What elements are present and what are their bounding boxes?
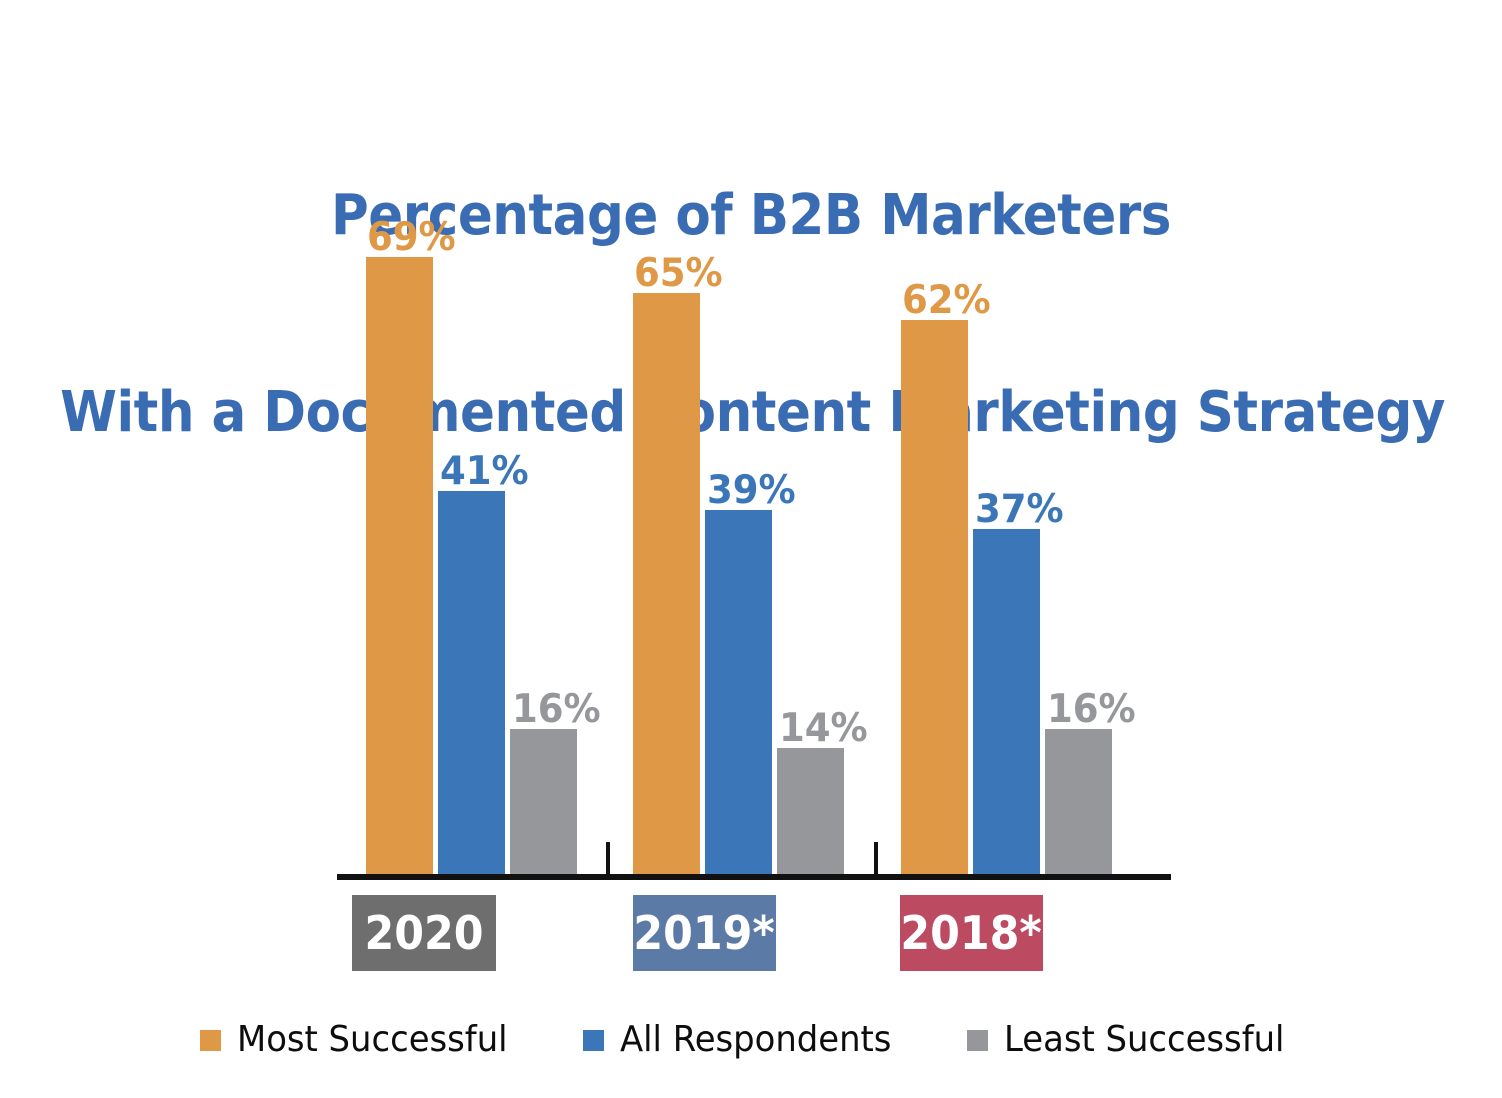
legend-item-least-successful[interactable]: Least Successful xyxy=(967,1022,1302,1058)
bar-2020-most-successful[interactable] xyxy=(366,257,433,879)
bar-2018-all-respondents[interactable] xyxy=(973,529,1040,879)
chart-container: Percentage of B2B Marketers With a Docum… xyxy=(0,0,1502,1098)
category-label-2020-text: 2020 xyxy=(364,906,483,960)
bar-label-2019-most-successful: 65% xyxy=(634,254,723,293)
category-label-2019[interactable]: 2019* xyxy=(633,895,776,971)
bar-label-2020-most-successful: 69% xyxy=(367,218,456,257)
legend-item-most-successful[interactable]: Most Successful xyxy=(200,1022,525,1058)
category-label-2018[interactable]: 2018* xyxy=(900,895,1043,971)
bar-label-2020-all-respondents: 41% xyxy=(440,452,529,491)
bar-label-2020-least-successful: 16% xyxy=(512,690,601,729)
bar-2018-most-successful[interactable] xyxy=(901,320,968,879)
category-label-2019-text: 2019* xyxy=(634,906,775,960)
bar-label-2019-least-successful: 14% xyxy=(779,709,868,748)
bar-2020-least-successful[interactable] xyxy=(510,729,577,879)
legend-swatch-icon-all-respondents xyxy=(583,1030,604,1051)
legend-swatch-icon-most-successful xyxy=(200,1030,221,1051)
plot-area: 69% 41% 16% 65% 39% 14% 62% 37% 16% xyxy=(337,200,1171,879)
bar-2019-least-successful[interactable] xyxy=(777,748,844,879)
bar-label-2018-all-respondents: 37% xyxy=(975,490,1064,529)
x-axis-tick-2 xyxy=(874,842,878,878)
bar-label-2019-all-respondents: 39% xyxy=(707,471,796,510)
category-label-2020[interactable]: 2020 xyxy=(352,895,496,971)
bar-2019-all-respondents[interactable] xyxy=(705,510,772,879)
bar-label-2018-most-successful: 62% xyxy=(902,281,991,320)
bar-2020-all-respondents[interactable] xyxy=(438,491,505,879)
bar-2019-most-successful[interactable] xyxy=(633,293,700,879)
legend-label-most-successful: Most Successful xyxy=(237,1022,508,1058)
bar-label-2018-least-successful: 16% xyxy=(1047,690,1136,729)
x-axis-line xyxy=(337,874,1171,880)
legend-label-least-successful: Least Successful xyxy=(1004,1022,1284,1058)
legend-swatch-icon-least-successful xyxy=(967,1030,988,1051)
category-label-2018-text: 2018* xyxy=(901,906,1042,960)
legend-label-all-respondents: All Respondents xyxy=(620,1022,891,1058)
x-axis-tick-1 xyxy=(606,842,610,878)
chart-legend: Most Successful All Respondents Least Su… xyxy=(0,1022,1502,1058)
bar-2018-least-successful[interactable] xyxy=(1045,729,1112,879)
legend-item-all-respondents[interactable]: All Respondents xyxy=(583,1022,909,1058)
